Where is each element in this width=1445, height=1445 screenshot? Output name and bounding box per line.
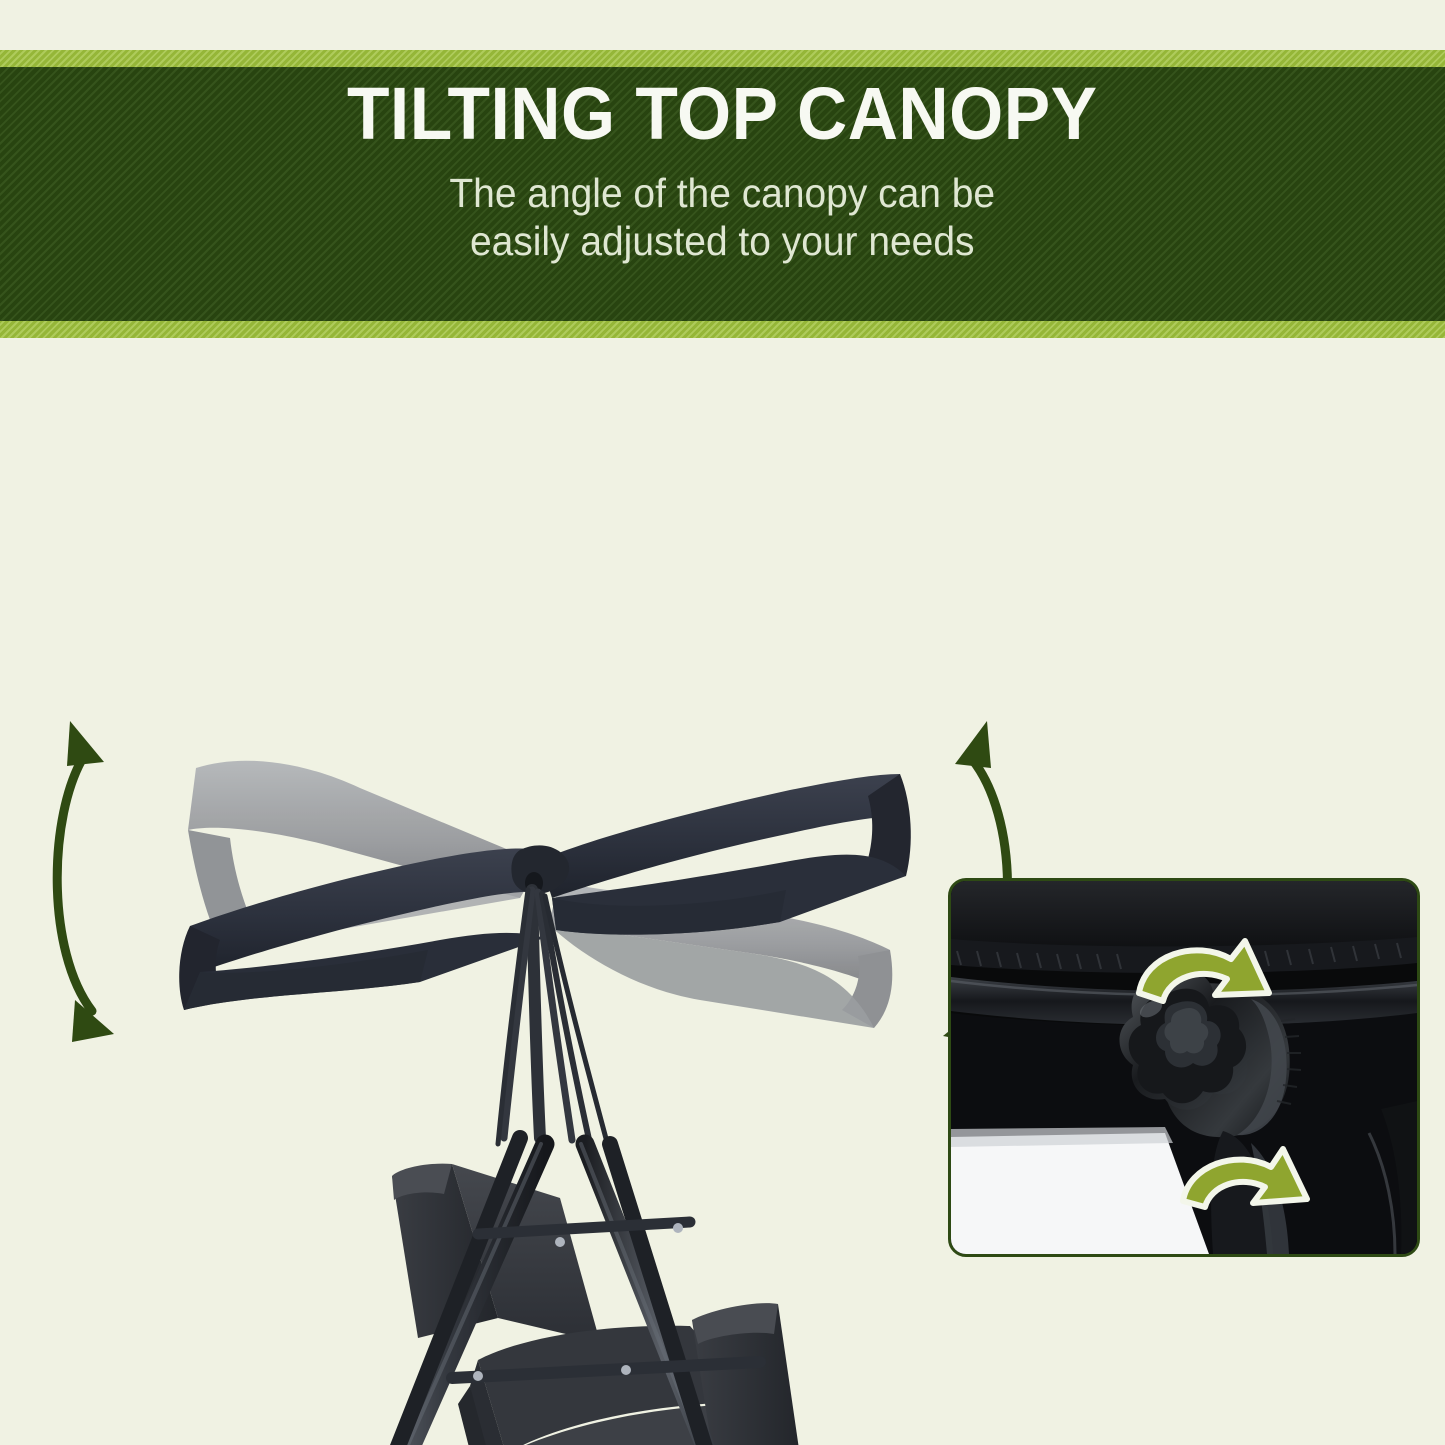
product-feature-image: TILTING TOP CANOPY The angle of the cano… <box>0 0 1445 1445</box>
patio-swing-product-image <box>0 338 1000 1445</box>
banner-subtitle-line-2: easily adjusted to your needs <box>450 217 996 265</box>
knob-detail-panel <box>948 878 1420 1257</box>
page-title: TILTING TOP CANOPY <box>347 77 1098 151</box>
rotate-clockwise-arrow-icon <box>1129 929 1279 1037</box>
header-banner: TILTING TOP CANOPY The angle of the cano… <box>0 50 1445 338</box>
product-stage <box>0 338 1445 1445</box>
banner-subtitle-line-1: The angle of the canopy can be <box>450 169 996 217</box>
banner-accent-stripe-bottom <box>0 321 1445 338</box>
rotate-counterclockwise-arrow-icon <box>1173 1143 1323 1243</box>
banner-subtitle: The angle of the canopy can be easily ad… <box>450 169 996 266</box>
banner-body: TILTING TOP CANOPY The angle of the cano… <box>0 67 1445 321</box>
banner-accent-stripe-top <box>0 50 1445 67</box>
